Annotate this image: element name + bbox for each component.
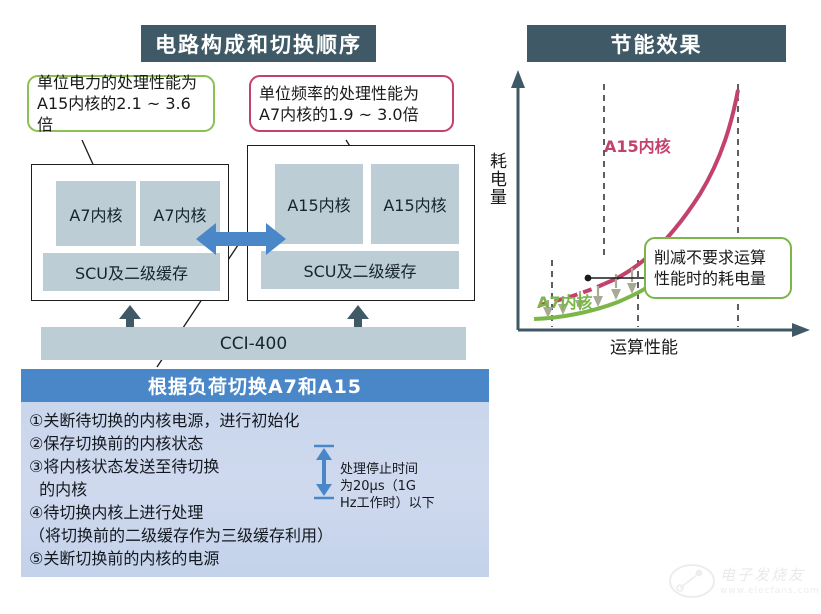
list-item: ⑤关断切换前的内核的电源	[29, 547, 481, 570]
y-axis-arrowhead	[511, 70, 525, 88]
series-label-a15: A15内核	[604, 133, 671, 157]
switch-policy-header-text: 根据负荷切换A7和A15	[148, 372, 362, 399]
saving-callout-leader-dot	[585, 275, 592, 282]
series-label-a7-text: A7内核	[537, 293, 593, 312]
a15-core-1-label: A15内核	[287, 192, 350, 216]
callout-power-efficiency: 单位电力的处理性能为 A15内核的2.1 ~ 3.6倍	[27, 75, 215, 132]
callout-power-saving: 削减不要求运算 性能时的耗电量	[644, 237, 792, 299]
stop-time-arrow-icon	[312, 444, 336, 500]
switch-arrow-icon	[196, 217, 286, 261]
series-label-a7: A7内核	[537, 289, 593, 313]
a15-core-1: A15内核	[275, 164, 363, 244]
right-panel-title: 节能效果	[527, 25, 786, 62]
a7-scu-cache-label: SCU及二级缓存	[75, 260, 188, 284]
stop-time-note: 处理停止时间 为20μs（1G Hz工作时）以下	[340, 444, 450, 512]
callout-power-saving-text: 削减不要求运算 性能时的耗电量	[654, 247, 766, 289]
x-axis-label-text: 运算性能	[610, 338, 678, 358]
y-axis-label: 耗电量	[484, 152, 509, 206]
a15-core-2: A15内核	[371, 164, 459, 244]
x-axis-arrowhead	[792, 323, 810, 337]
energy-saving-chart	[500, 62, 820, 362]
y-axis-label-text: 耗电量	[486, 152, 506, 206]
series-label-a15-text: A15内核	[604, 137, 671, 156]
watermark-logo-icon	[668, 560, 716, 602]
list-item: ①关断待切换的内核电源，进行初始化	[29, 409, 481, 432]
watermark-brand: 电子发烧友	[720, 564, 805, 585]
list-item: （将切换前的二级缓存作为三级缓存利用）	[29, 524, 481, 547]
right-panel-title-text: 节能效果	[611, 29, 703, 59]
cci-400-label: CCI-400	[220, 334, 287, 354]
a15-core-2-label: A15内核	[383, 192, 446, 216]
watermark-url: www.elecfans.com	[720, 586, 820, 596]
watermark: 电子发烧友 www.elecfans.com	[668, 558, 813, 606]
x-axis-label: 运算性能	[610, 333, 678, 358]
a15-scu-cache: SCU及二级缓存	[261, 251, 459, 289]
a7-core-1-label: A7内核	[69, 202, 122, 226]
callout-frequency-efficiency-text: 单位频率的处理性能为 A7内核的1.9 ~ 3.0倍	[259, 83, 419, 125]
a7-core-1: A7内核	[56, 181, 136, 246]
a7-scu-cache: SCU及二级缓存	[43, 253, 220, 291]
callout-frequency-efficiency: 单位频率的处理性能为 A7内核的1.9 ~ 3.0倍	[249, 75, 454, 132]
callout-power-efficiency-text: 单位电力的处理性能为 A15内核的2.1 ~ 3.6倍	[37, 72, 205, 135]
cci-400-bar: CCI-400	[41, 327, 466, 360]
switch-policy-header: 根据负荷切换A7和A15	[21, 369, 489, 402]
stop-time-note-text: 处理停止时间 为20μs（1G Hz工作时）以下	[340, 462, 435, 511]
a15-scu-cache-label: SCU及二级缓存	[303, 258, 416, 282]
